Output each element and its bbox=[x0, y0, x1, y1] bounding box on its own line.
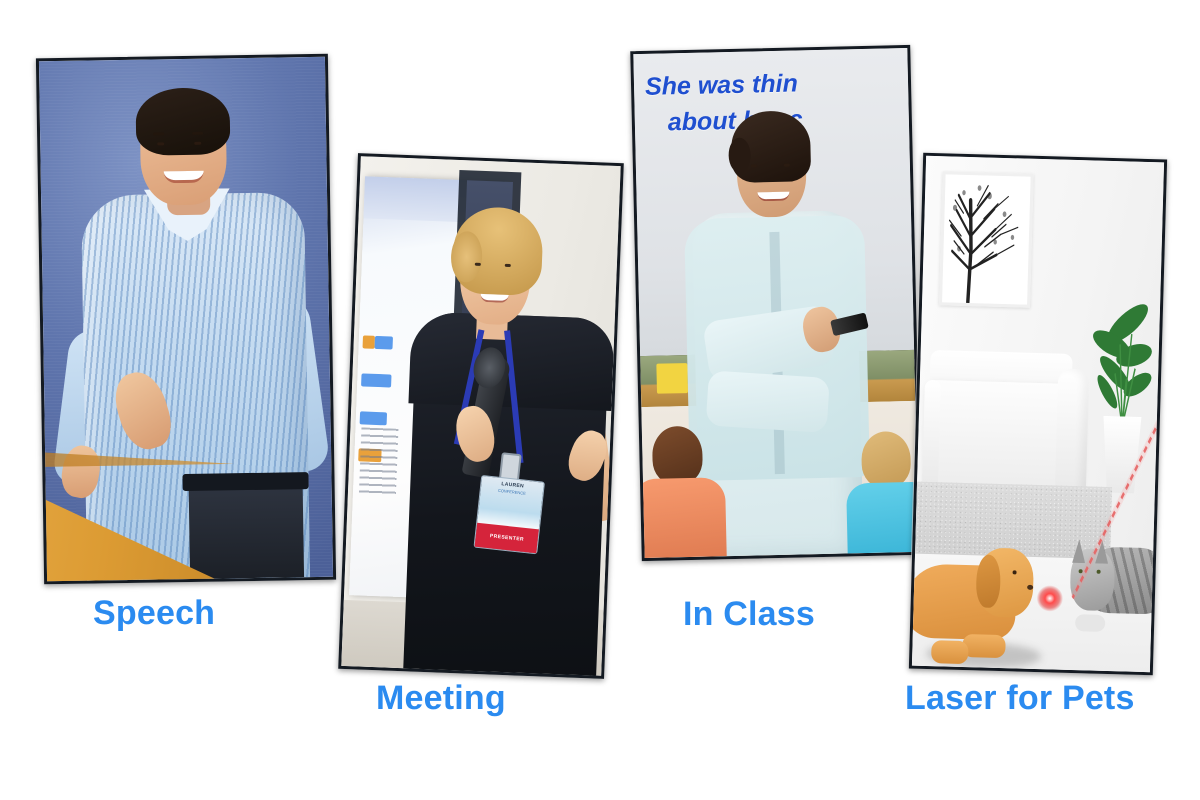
panel-in-class[interactable]: She was thin about her c bbox=[630, 45, 921, 561]
photo-speech bbox=[39, 57, 333, 581]
slide-body-text bbox=[358, 428, 398, 496]
photo-laser-for-pets bbox=[912, 156, 1164, 672]
class-lower-arm bbox=[705, 370, 829, 433]
student-left-head bbox=[651, 426, 703, 485]
panel-laser-for-pets[interactable] bbox=[909, 153, 1167, 676]
class-shelf-item-1 bbox=[657, 363, 688, 394]
class-teacher-hair-bun bbox=[728, 137, 751, 173]
pets-sofa-arm-right bbox=[1055, 369, 1090, 502]
caption-meeting: Meeting bbox=[376, 679, 506, 718]
slide-bar-2 bbox=[375, 336, 393, 350]
caption-speech: Speech bbox=[93, 594, 215, 633]
class-student-right bbox=[845, 431, 919, 554]
speech-brow-left bbox=[153, 132, 164, 135]
meeting-smile bbox=[480, 293, 509, 302]
collage-stage: Speech bbox=[0, 0, 1200, 800]
pets-puppy bbox=[912, 543, 1049, 659]
speech-belt bbox=[183, 472, 309, 491]
slide-bar-1 bbox=[363, 336, 376, 349]
speech-smile bbox=[164, 171, 204, 184]
speech-brow-right bbox=[192, 132, 203, 135]
speech-hair bbox=[135, 87, 230, 156]
puppy-nose bbox=[1027, 585, 1033, 590]
pets-kitten bbox=[1065, 522, 1164, 632]
slide-bar-4 bbox=[360, 411, 388, 425]
board-text-line1: She was thin bbox=[645, 70, 798, 101]
speech-eye-left bbox=[157, 143, 164, 146]
student-right-head bbox=[860, 431, 910, 488]
class-student-left bbox=[633, 425, 727, 558]
puppy-paw-back bbox=[931, 640, 969, 663]
kitten-paw bbox=[1075, 614, 1105, 632]
panel-meeting[interactable]: LAUREN CONFERENCE PRESENTER bbox=[338, 153, 624, 679]
photo-meeting: LAUREN CONFERENCE PRESENTER bbox=[341, 156, 620, 676]
puppy-eye bbox=[1012, 571, 1016, 575]
slide-bar-3 bbox=[361, 373, 391, 387]
student-right-shirt bbox=[846, 481, 919, 553]
meeting-eye-right bbox=[505, 264, 511, 267]
puppy-paw-front bbox=[963, 634, 1006, 658]
tree-artwork-icon bbox=[942, 175, 1031, 305]
pets-plant-leaves bbox=[1080, 298, 1155, 433]
meeting-eye-left bbox=[475, 263, 481, 266]
student-left-shirt bbox=[633, 478, 727, 558]
pets-wall-art-frame bbox=[939, 172, 1034, 308]
photo-in-class: She was thin about her c bbox=[633, 48, 918, 558]
caption-laser-for-pets: Laser for Pets bbox=[905, 679, 1135, 718]
caption-in-class: In Class bbox=[683, 595, 815, 634]
speech-trousers bbox=[189, 484, 305, 579]
meeting-name-badge: LAUREN CONFERENCE PRESENTER bbox=[473, 475, 545, 555]
panel-speech[interactable] bbox=[36, 54, 336, 585]
